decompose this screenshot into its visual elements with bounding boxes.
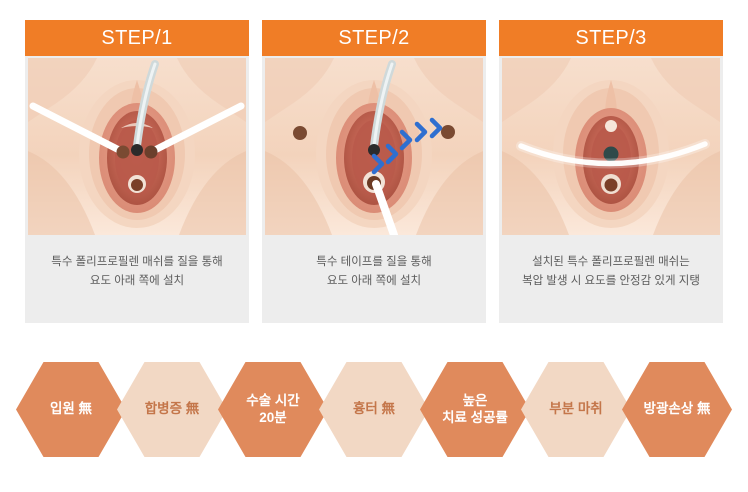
step-illustration-2 <box>265 58 483 235</box>
anatomy-diagram-3 <box>502 58 720 235</box>
step-caption-1: 특수 폴리프로필렌 매쉬를 질을 통해 요도 아래 쪽에 설치 <box>25 235 249 323</box>
anatomy-diagram-1 <box>28 58 246 235</box>
step-caption-1-line1: 특수 폴리프로필렌 매쉬를 질을 통해 <box>25 253 249 272</box>
step-caption-2-line2: 요도 아래 쪽에 설치 <box>262 272 486 291</box>
benefits-row: 입원 無 합병증 無 수술 시간 20분 흉터 無 높은 치료 성공률 부분 마… <box>16 362 732 457</box>
step-title-3: STEP/3 <box>499 20 723 56</box>
benefit-hex-3: 수술 시간 20분 <box>218 362 328 457</box>
step-illustration-1 <box>28 58 246 235</box>
benefit-label-7: 방광손상 無 <box>644 401 711 418</box>
step-caption-3-line1: 설치된 특수 폴리프로필렌 매쉬는 <box>499 253 723 272</box>
step-title-2: STEP/2 <box>262 20 486 56</box>
benefit-hex-5: 높은 치료 성공률 <box>420 362 530 457</box>
step-title-1: STEP/1 <box>25 20 249 56</box>
benefit-hex-4: 흉터 無 <box>319 362 429 457</box>
benefit-hex-7: 방광손상 無 <box>622 362 732 457</box>
benefit-hex-2: 합병증 無 <box>117 362 227 457</box>
step-caption-3: 설치된 특수 폴리프로필렌 매쉬는 복압 발생 시 요도를 안정감 있게 지탱 <box>499 235 723 323</box>
step-card-3: STEP/3 <box>499 20 723 323</box>
step-caption-2-line1: 특수 테이프를 질을 통해 <box>262 253 486 272</box>
infographic-page: STEP/1 <box>0 0 748 492</box>
step-cards-row: STEP/1 <box>25 20 723 323</box>
benefit-label-1: 입원 無 <box>50 401 92 418</box>
step-caption-2: 특수 테이프를 질을 통해 요도 아래 쪽에 설치 <box>262 235 486 323</box>
benefit-label-2: 합병증 無 <box>145 401 200 418</box>
step-caption-1-line2: 요도 아래 쪽에 설치 <box>25 272 249 291</box>
benefit-hex-6: 부분 마취 <box>521 362 631 457</box>
anatomy-diagram-2 <box>265 58 483 235</box>
step-caption-3-line2: 복압 발생 시 요도를 안정감 있게 지탱 <box>499 272 723 291</box>
benefit-hex-1: 입원 無 <box>16 362 126 457</box>
benefit-label-3: 수술 시간 20분 <box>246 393 299 427</box>
step-illustration-3 <box>502 58 720 235</box>
step-card-2: STEP/2 <box>262 20 486 323</box>
benefit-label-5: 높은 치료 성공률 <box>442 393 508 427</box>
benefit-label-6: 부분 마취 <box>549 401 602 418</box>
step-card-1: STEP/1 <box>25 20 249 323</box>
benefit-label-4: 흉터 無 <box>353 401 395 418</box>
